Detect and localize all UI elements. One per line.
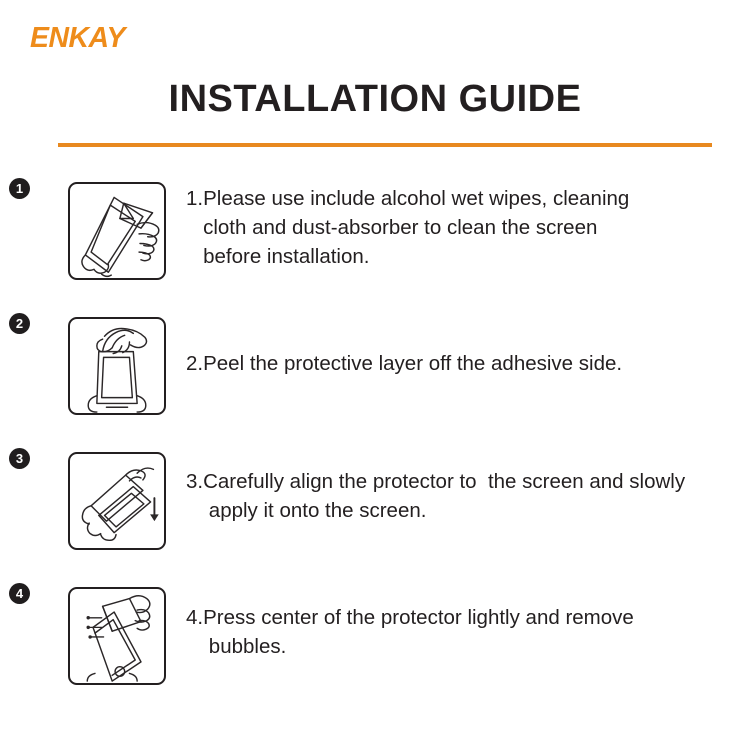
logo-text: ENKAY: [30, 22, 125, 54]
page-title: INSTALLATION GUIDE: [0, 79, 750, 121]
step-4-badge: 4: [9, 583, 30, 604]
press-center-illustration: [70, 589, 164, 683]
step-1-badge: 1: [9, 178, 30, 199]
step-2-figure: [68, 317, 166, 415]
step-3-text: 3.Carefully align the protector to the s…: [186, 467, 702, 525]
step-2-badge: 2: [9, 313, 30, 334]
step-1-text: 1.Please use include alcohol wet wipes, …: [186, 184, 656, 271]
installation-guide-page: ENKAY INSTALLATION GUIDE: [0, 0, 750, 750]
step-2-text: 2.Peel the protective layer off the adhe…: [186, 349, 706, 378]
clean-screen-illustration: [70, 184, 164, 278]
step-1-figure: [68, 182, 166, 280]
title-divider: [58, 143, 712, 147]
enkay-logo: ENKAY: [30, 24, 125, 53]
align-protector-illustration: [70, 454, 164, 548]
step-3-figure: [68, 452, 166, 550]
step-4-figure: [68, 587, 166, 685]
peel-layer-illustration: [70, 319, 164, 413]
step-3-badge: 3: [9, 448, 30, 469]
step-4-text: 4.Press center of the protector lightly …: [186, 603, 692, 661]
